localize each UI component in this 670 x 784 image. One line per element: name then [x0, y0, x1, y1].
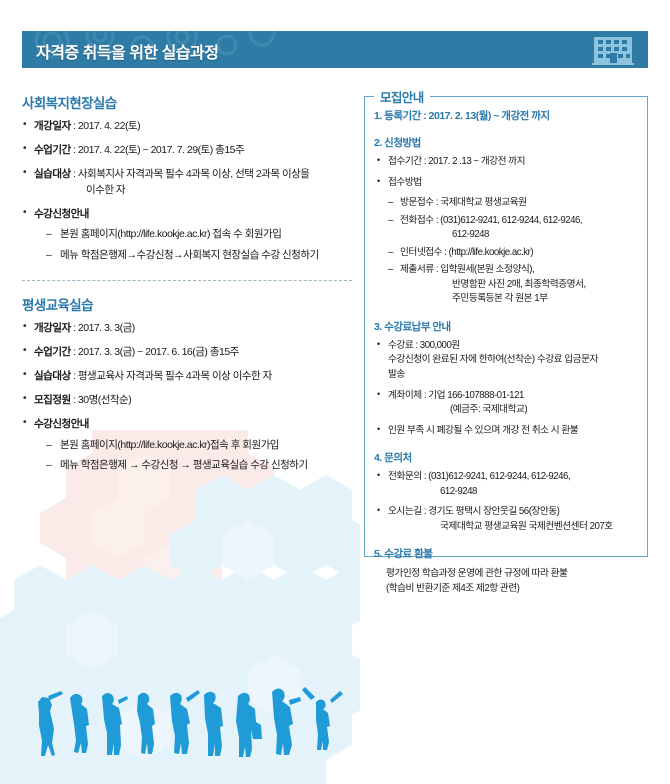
block-application-method: 2. 신청방법 접수기간 : 2017. 2 .13 ~ 개강전 까지 접수방법… — [374, 135, 642, 307]
sub-item-internet: 인터넷접수 : (http://life.kookje.ac.kr) — [374, 246, 642, 261]
block-refund: 5. 수강료 환불 평가인정 학습과정 운영에 관한 규정에 따라 환불 (학습… — [374, 546, 642, 596]
bullet-item-account: 계좌이체 : 기업 166-107888-01-121 (예금주: 국제대학교) — [374, 389, 642, 418]
field-row: 실습대상 : 사회복지사 자격과목 필수 4과목 이상, 선택 2과목 이상을 … — [22, 167, 352, 197]
numbered-heading: 1. 등록기간 : 2017. 2. 13(월) ~ 개강전 까지 — [374, 108, 642, 123]
field-row: 수업기간 : 2017. 3. 3(금) ~ 2017. 6. 16(금) 총1… — [22, 345, 352, 360]
field-label: 수강신청안내 — [34, 418, 89, 430]
sub-item: 메뉴 학점은행제 → 수강신청 → 평생교육실습 수강 신청하기 — [34, 458, 352, 474]
page-title: 자격증 취득을 위한 실습과정 — [36, 39, 218, 63]
field-value: : 2017. 3. 3(금) — [73, 322, 135, 334]
account-number: 계좌이체 : 기업 166-107888-01-121 — [388, 390, 524, 401]
field-row: 실습대상 : 평생교육사 자격과목 필수 4과목 이상 이수한 자 — [22, 369, 352, 384]
block-registration-period: 1. 등록기간 : 2017. 2. 13(월) ~ 개강전 까지 — [374, 108, 642, 123]
phone-numbers: 전화문의 : (031)612-9241, 612-9244, 612-9246… — [388, 471, 570, 482]
field-row: 모집정원 : 30명(선착순) — [22, 393, 352, 408]
sub-item: 메뉴 학점은행제→수강신청→사회복지 현장실습 수강 신청하기 — [34, 248, 352, 264]
fee-amount: 수강료 : 300,000원 — [388, 340, 460, 351]
block-payment-info: 3. 수강료납부 안내 수강료 : 300,000원 수강신청이 완료된 자에 … — [374, 319, 642, 438]
field-label: 개강일자 — [34, 120, 71, 132]
section-divider — [22, 280, 352, 281]
recruitment-box-title: 모집안내 — [374, 87, 430, 106]
field-value: : 사회복지사 자격과목 필수 4과목 이상, 선택 2과목 이상을 — [73, 168, 309, 180]
bullet-item-fee: 수강료 : 300,000원 수강신청이 완료된 자에 한하여(선착순) 수강료… — [374, 339, 642, 383]
numbered-heading: 3. 수강료납부 안내 — [374, 319, 642, 334]
field-label: 수강신청안내 — [34, 208, 89, 220]
bullet-item-phone-inquiry: 전화문의 : (031)612-9241, 612-9244, 612-9246… — [374, 470, 642, 499]
field-value: : 평생교육사 자격과목 필수 4과목 이상 이수한 자 — [73, 370, 272, 382]
field-value: : 2017. 3. 3(금) ~ 2017. 6. 16(금) 총15주 — [73, 346, 239, 358]
bullet-item-cancellation: 인원 부족 시 폐강될 수 있으며 개강 전 취소 시 환불 — [374, 424, 642, 439]
field-row: 수업기간 : 2017. 4. 22(토) ~ 2017. 7. 29(토) 총… — [22, 143, 352, 158]
sub-item-text: 제출서류 : 입학원세(본원 소정양식), — [400, 264, 534, 275]
numbered-heading: 4. 문의처 — [374, 450, 642, 465]
fee-note: 수강신청이 완료된 자에 한하여(선착순) 수강료 입금문자 — [388, 353, 642, 368]
field-label: 모집정원 — [34, 394, 71, 406]
field-row-apply: 수강신청안내 본원 홈페이지(http://life.kookje.ac.kr)… — [22, 207, 352, 264]
section-title-lifelong-edu: 평생교육실습 — [22, 294, 352, 314]
field-value: : 30명(선착순) — [73, 394, 131, 406]
sub-item: 본원 홈페이지(http://life.kookje.ac.kr) 접속 수 회… — [34, 227, 352, 243]
numbered-heading: 2. 신청방법 — [374, 135, 642, 150]
header-bar: 자격증 취득을 위한 실습과정 — [22, 31, 648, 68]
field-label: 실습대상 — [34, 370, 71, 382]
recruitment-box-content: 1. 등록기간 : 2017. 2. 13(월) ~ 개강전 까지 2. 신청방… — [374, 108, 642, 608]
field-value: : 2017. 4. 22(토) — [73, 120, 140, 132]
left-column: 사회복지현장실습 개강일자 : 2017. 4. 22(토) 수업기간 : 20… — [22, 92, 352, 483]
block-contact: 4. 문의처 전화문의 : (031)612-9241, 612-9244, 6… — [374, 450, 642, 534]
account-holder: (예금주: 국제대학교) — [388, 403, 642, 418]
sub-item: 본원 홈페이지(http://life.kookje.ac.kr)접속 후 회원… — [34, 438, 352, 454]
field-label: 수업기간 — [34, 346, 71, 358]
refund-line1: 평가인정 학습과정 운영에 관한 규정에 따라 환불 — [374, 566, 642, 581]
field-row: 개강일자 : 2017. 3. 3(금) — [22, 321, 352, 336]
sub-item-text: 전화접수 : (031)612-9241, 612-9244, 612-9246… — [400, 215, 582, 226]
poster-page: 자격증 취득을 위한 실습과정 사회복지현장실습 개강일자 : 2017. 4.… — [0, 0, 670, 784]
bullet-item: 접수기간 : 2017. 2 .13 ~ 개강전 까지 — [374, 155, 642, 170]
sub-item-documents: 제출서류 : 입학원세(본원 소정양식), 반명함판 사진 2매, 최종학력증명… — [374, 263, 642, 307]
field-label: 개강일자 — [34, 322, 71, 334]
field-row-apply: 수강신청안내 본원 홈페이지(http://life.kookje.ac.kr)… — [22, 417, 352, 474]
field-row: 개강일자 : 2017. 4. 22(토) — [22, 119, 352, 134]
section-title-social-welfare: 사회복지현장실습 — [22, 92, 352, 112]
sub-item-cont: 612-9248 — [400, 228, 642, 243]
field-label: 수업기간 — [34, 144, 71, 156]
sub-item-cont2: 주민등록등본 각 원본 1부 — [400, 292, 642, 307]
phone-numbers-cont: 612-9248 — [388, 485, 642, 500]
field-value-cont: 이수한 자 — [34, 183, 352, 198]
building-icon — [590, 34, 636, 66]
address-line2: 국제대학교 평생교육원 국제컨벤션센터 207호 — [388, 520, 642, 535]
refund-line2: (학습비 반환기준 제4조 제2항 관련) — [374, 581, 642, 596]
sub-item-visit: 방문접수 : 국제대학교 평생교육원 — [374, 196, 642, 211]
sub-item-phone: 전화접수 : (031)612-9241, 612-9244, 612-9246… — [374, 214, 642, 243]
field-label: 실습대상 — [34, 168, 71, 180]
address-line1: 오시는길 : 경기도 평택시 장안웃길 56(장안동) — [388, 506, 559, 517]
fee-note2: 발송 — [388, 368, 642, 383]
sub-item-cont: 반명함판 사진 2매, 최종학력증명서, — [400, 278, 642, 293]
bullet-item: 접수방법 — [374, 176, 642, 191]
numbered-heading: 5. 수강료 환불 — [374, 546, 642, 561]
field-value: : 2017. 4. 22(토) ~ 2017. 7. 29(토) 총15주 — [73, 144, 244, 156]
bullet-item-address: 오시는길 : 경기도 평택시 장안웃길 56(장안동) 국제대학교 평생교육원 … — [374, 505, 642, 534]
